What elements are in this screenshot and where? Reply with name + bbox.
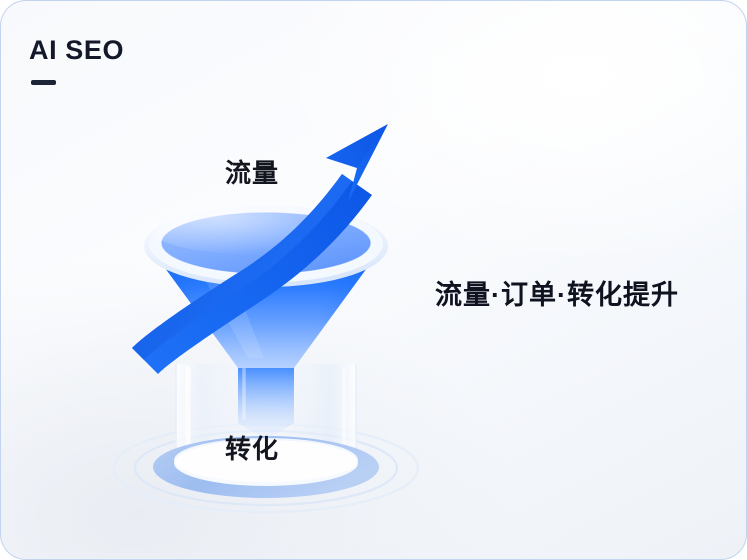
title-underline-accent <box>31 80 56 85</box>
tagline-text: 流量·订单·转化提升 <box>435 273 679 312</box>
funnel-label-traffic: 流量 <box>225 153 279 190</box>
poster-canvas: AI SEO 流量·订单·转化提升 流量 转化 <box>0 0 747 560</box>
page-title: AI SEO <box>29 37 124 64</box>
funnel-label-conversion: 转化 <box>225 429 279 466</box>
